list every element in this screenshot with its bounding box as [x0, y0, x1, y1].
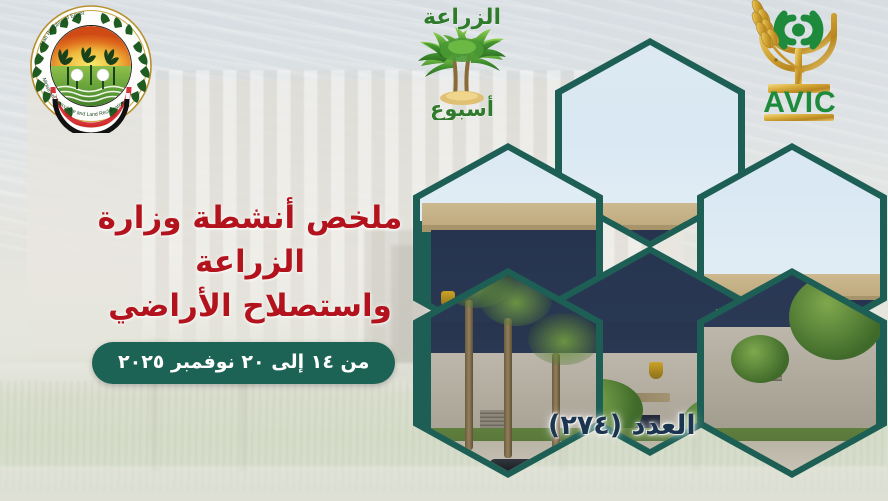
newsletter-cover-banner: Arab Republic of Egypt Ministry of Agric… — [0, 0, 888, 501]
week-logo-bottom-text: أسبوع — [430, 94, 494, 120]
avic-logo: AVIC AVIC — [730, 0, 870, 125]
week-logo-top-text: الزراعة — [423, 5, 501, 30]
avic-wordmark-text: AVIC — [763, 86, 836, 119]
ministry-of-agriculture-emblem: Arab Republic of Egypt Ministry of Agric… — [17, 3, 165, 133]
agriculture-week-palm-logo: الزراعة أسبوع الزراعة أسبوع — [392, 0, 532, 120]
page-title-line-1: ملخص أنشطة وزارة الزراعة — [40, 196, 460, 284]
date-range-badge: من ١٤ إلى ٢٠ نوفمبر ٢٠٢٥ — [92, 342, 395, 384]
issue-number-label: العدد (٢٧٤) — [548, 410, 696, 441]
page-title: ملخص أنشطة وزارة الزراعة واستصلاح الأراض… — [40, 196, 460, 328]
page-title-line-2: واستصلاح الأراضي — [40, 284, 460, 328]
